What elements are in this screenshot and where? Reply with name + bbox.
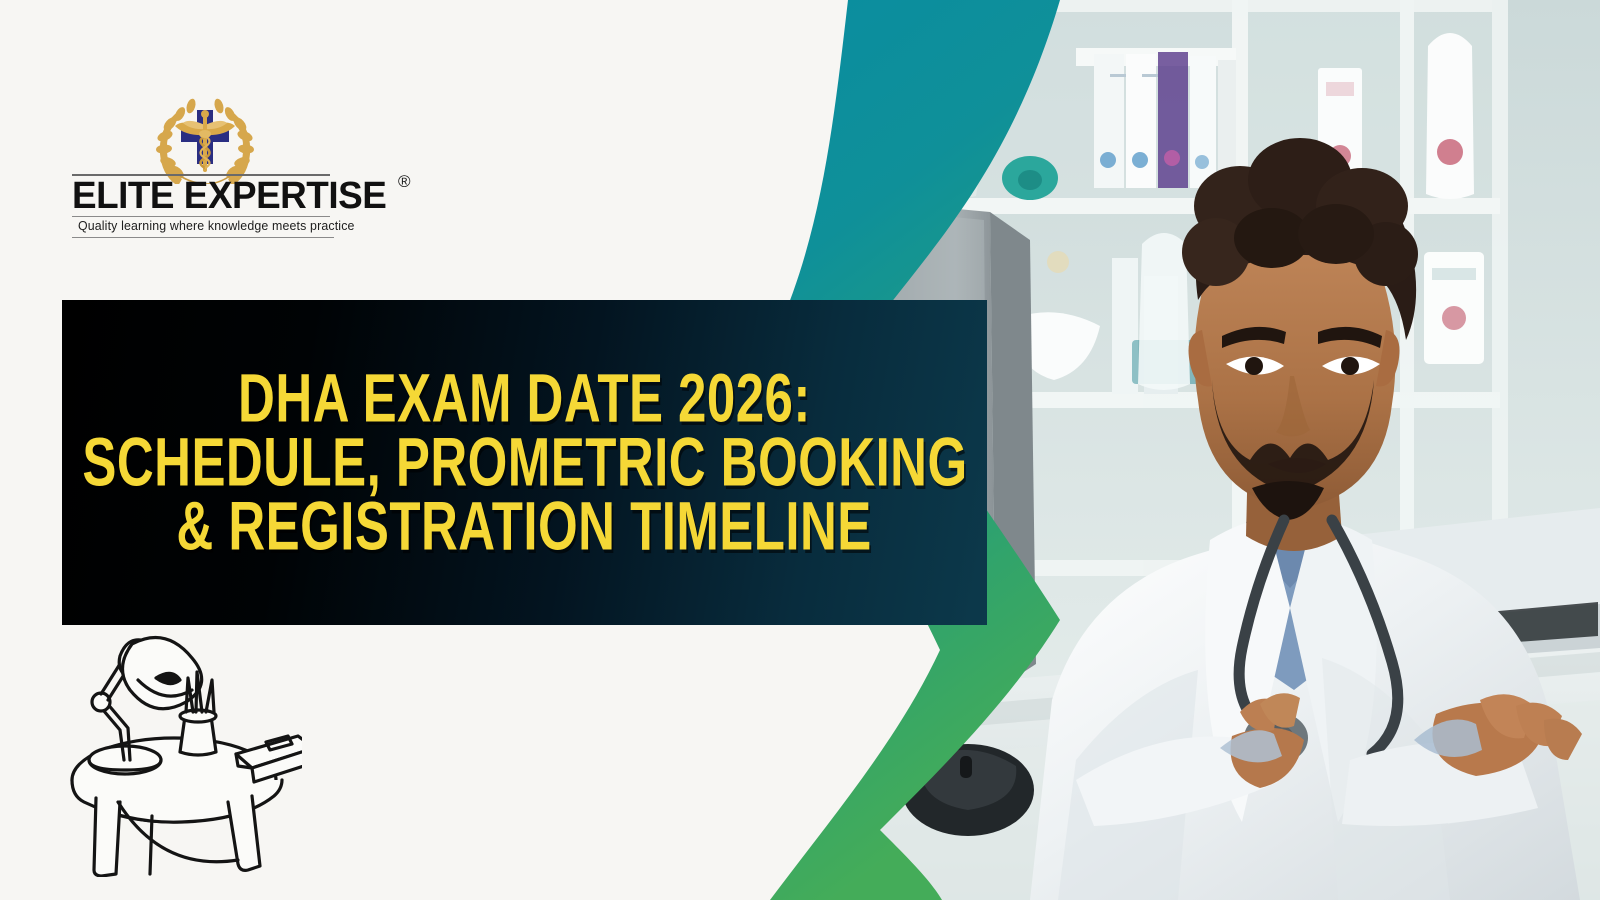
title-line-3: & REGISTRATION TIMELINE	[177, 492, 872, 560]
caduceus-laurel-medical-crest-icon	[150, 92, 260, 184]
brand-wordmark: ELITE EXPERTISE ® Quality learning where…	[72, 174, 362, 238]
title-line-2: SCHEDULE, PROMETRIC BOOKING	[82, 428, 967, 496]
title-banner: DHA EXAM DATE 2026: SCHEDULE, PROMETRIC …	[62, 300, 987, 625]
binder-files	[1076, 48, 1236, 188]
brand-tagline: Quality learning where knowledge meets p…	[72, 217, 359, 234]
brand-logo[interactable]: ELITE EXPERTISE ® Quality learning where…	[72, 92, 372, 254]
bokeh-dot	[1047, 251, 1069, 273]
brand-name: ELITE EXPERTISE	[72, 176, 386, 216]
banner-canvas: ELITE EXPERTISE ® Quality learning where…	[0, 0, 1600, 900]
registered-trademark-icon: ®	[398, 172, 411, 192]
doctor-photo	[880, 0, 1600, 900]
title-line-1: DHA EXAM DATE 2026:	[238, 364, 811, 432]
teal-disc-ornament	[1002, 156, 1058, 200]
doctor-photo-illustration	[880, 0, 1600, 900]
wordmark-rule-bottom	[72, 237, 334, 238]
desk-with-lamp-line-art-icon	[52, 612, 302, 877]
bokeh-dot	[915, 19, 941, 45]
